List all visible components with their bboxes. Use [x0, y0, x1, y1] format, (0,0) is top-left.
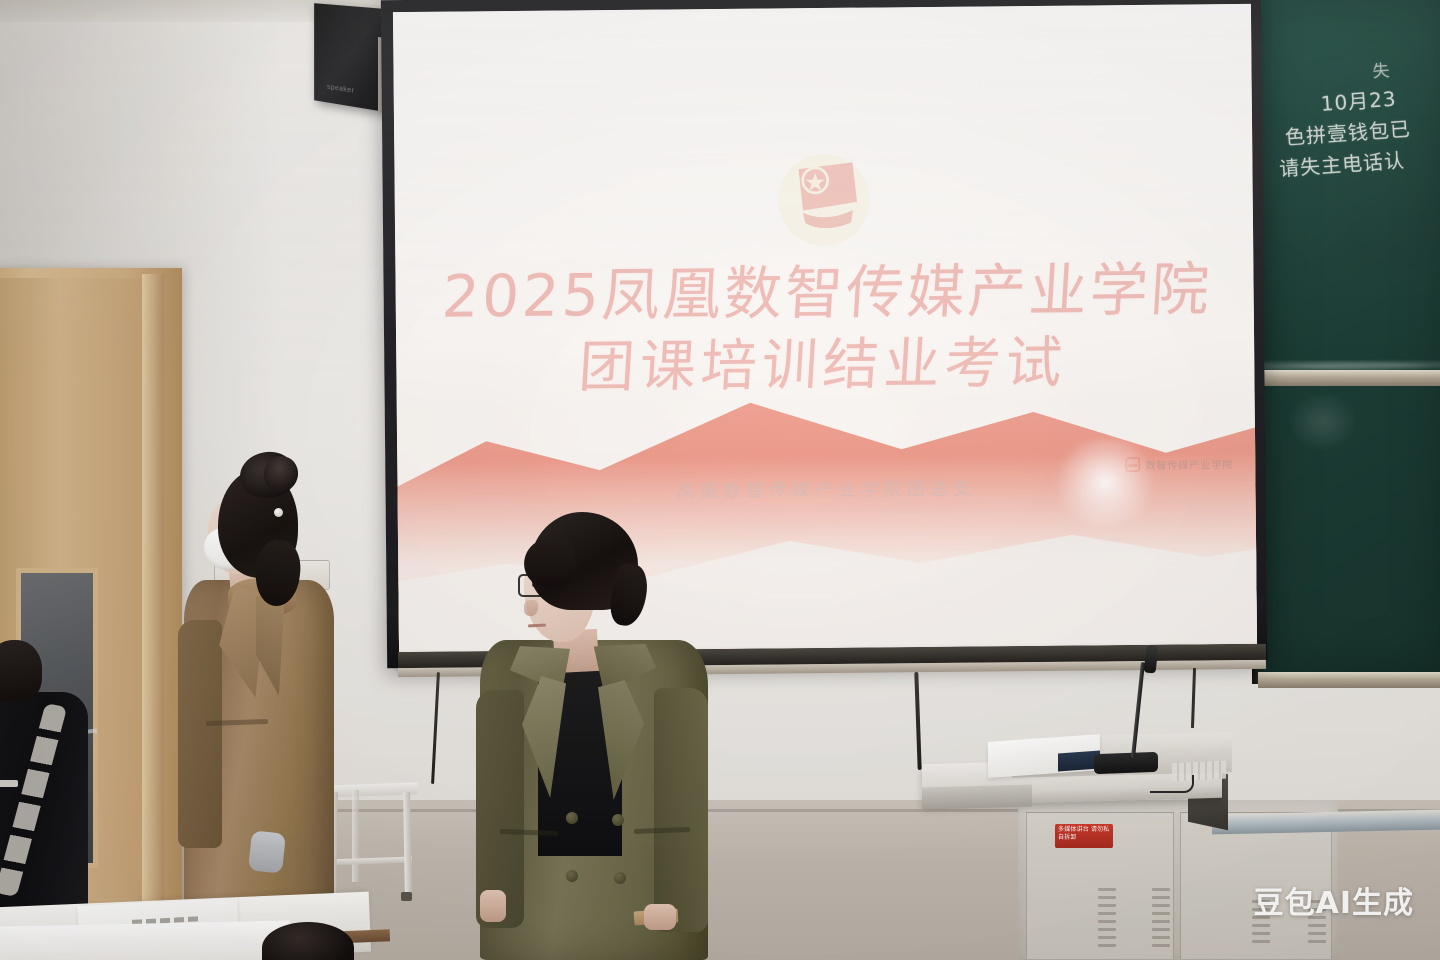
ai-watermark: 豆包AI生成	[1254, 878, 1414, 922]
slide-title-line-2: 团课培训结业考试	[393, 326, 1254, 406]
slide-title-line-1: 2025凤凰数智传媒产业学院	[440, 255, 1214, 330]
communist-youth-league-emblem	[771, 145, 876, 250]
man-in-olive-coat	[462, 512, 712, 960]
man-coat-button-4	[614, 872, 626, 884]
stool-foot-right	[401, 892, 412, 901]
man-nose	[524, 600, 538, 616]
chalkboard-writing: 失 10月23 色拼壹钱包已 请失主电话认	[1254, 53, 1440, 187]
chalkboard-smudge	[1288, 392, 1358, 452]
slide-title: 2025凤凰数智传媒产业学院 团课培训结业考试	[393, 252, 1257, 406]
chalkboard-ledge-lower	[1258, 672, 1440, 688]
woman-in-brown-coat	[178, 452, 338, 922]
podium-vent-1	[1098, 888, 1116, 947]
wall-speaker: speaker	[314, 3, 386, 112]
microphone-base[interactable]	[1094, 752, 1158, 774]
woman-hair-pin-icon	[274, 508, 283, 517]
man-hand-left	[480, 890, 506, 922]
podium-left-extension	[922, 784, 1032, 809]
man-coat-button-2	[612, 814, 624, 826]
student-head	[0, 640, 42, 702]
classroom-photo: speaker 失 10月23 色拼壹钱包已 请失主电话认	[0, 0, 1440, 960]
man-sleeve-right	[654, 688, 708, 932]
door-edge	[142, 274, 164, 902]
woman-sleeve	[178, 620, 222, 848]
man-hand-right	[644, 904, 676, 930]
stool-leg-back	[352, 790, 359, 882]
microphone-cable	[1150, 775, 1194, 793]
student-jacket-logo	[0, 780, 18, 787]
podium-vent-2	[1152, 888, 1170, 947]
foreground-student-black-jacket	[0, 640, 96, 940]
speaker-brand-label: speaker	[327, 84, 354, 95]
man-coat-button-1	[566, 812, 578, 824]
front-desk-lower	[0, 921, 290, 960]
chalkboard-ledge-upper	[1258, 370, 1440, 386]
man-coat-button-3	[566, 870, 578, 882]
podium-warning-label: 多媒体讲台 请勿私自拆卸	[1055, 824, 1113, 848]
woman-hands	[248, 830, 286, 873]
